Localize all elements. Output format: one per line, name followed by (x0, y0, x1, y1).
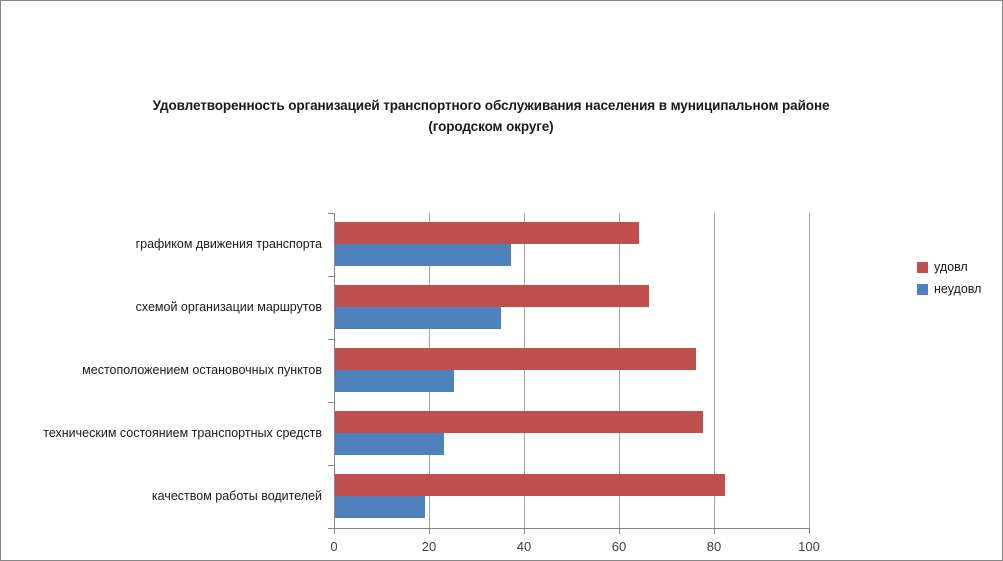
bar-neudovl (335, 496, 425, 518)
bar-group (335, 213, 810, 276)
x-axis-tickmark (809, 528, 810, 534)
y-axis-tickmark (328, 276, 334, 277)
y-axis-category-label: графиком движения транспорта (1, 237, 331, 251)
x-axis-tick-label: 0 (304, 539, 364, 554)
chart-legend: удовлнеудовл (917, 256, 981, 300)
plot-area: 020406080100 (334, 213, 809, 528)
y-axis-category-label: техническим состоянием транспортных сред… (1, 426, 331, 440)
legend-entry[interactable]: неудовл (917, 278, 981, 300)
x-axis-tickmark (524, 528, 525, 534)
y-axis-category-label: местоположением остановочных пунктов (1, 363, 331, 377)
bar-neudovl (335, 370, 454, 392)
chart-container: Удовлетворенность организацией транспорт… (0, 0, 1003, 561)
chart-title: Удовлетворенность организацией транспорт… (111, 95, 871, 137)
y-axis-tickmark (328, 339, 334, 340)
y-axis-category-label: качеством работы водителей (1, 489, 331, 503)
bar-group (335, 339, 810, 402)
bar-udovl (335, 222, 639, 244)
bar-neudovl (335, 307, 501, 329)
x-axis-tickmark (429, 528, 430, 534)
x-axis-tick-label: 80 (684, 539, 744, 554)
chart-title-line-2: (городском округе) (111, 116, 871, 137)
bar-neudovl (335, 433, 444, 455)
x-axis-line (334, 528, 810, 529)
x-axis-tick-label: 100 (779, 539, 839, 554)
bar-udovl (335, 285, 649, 307)
x-axis-tickmark (334, 528, 335, 534)
x-axis-tickmark (619, 528, 620, 534)
legend-label: удовл (934, 260, 968, 274)
y-axis-tickmark (328, 465, 334, 466)
x-axis-tickmark (714, 528, 715, 534)
y-axis-tickmark (328, 213, 334, 214)
x-axis-tick-label: 60 (589, 539, 649, 554)
y-axis-category-label: схемой организации маршрутов (1, 300, 331, 314)
bar-udovl (335, 348, 696, 370)
chart-title-line-1: Удовлетворенность организацией транспорт… (111, 95, 871, 116)
bar-group (335, 465, 810, 528)
bar-group (335, 402, 810, 465)
bar-group (335, 276, 810, 339)
bar-udovl (335, 411, 703, 433)
legend-swatch-icon (917, 262, 928, 273)
legend-swatch-icon (917, 284, 928, 295)
bar-udovl (335, 474, 725, 496)
x-axis-tick-label: 40 (494, 539, 554, 554)
x-axis-tick-label: 20 (399, 539, 459, 554)
legend-entry[interactable]: удовл (917, 256, 981, 278)
bar-neudovl (335, 244, 511, 266)
y-axis-tickmark (328, 402, 334, 403)
legend-label: неудовл (934, 282, 981, 296)
